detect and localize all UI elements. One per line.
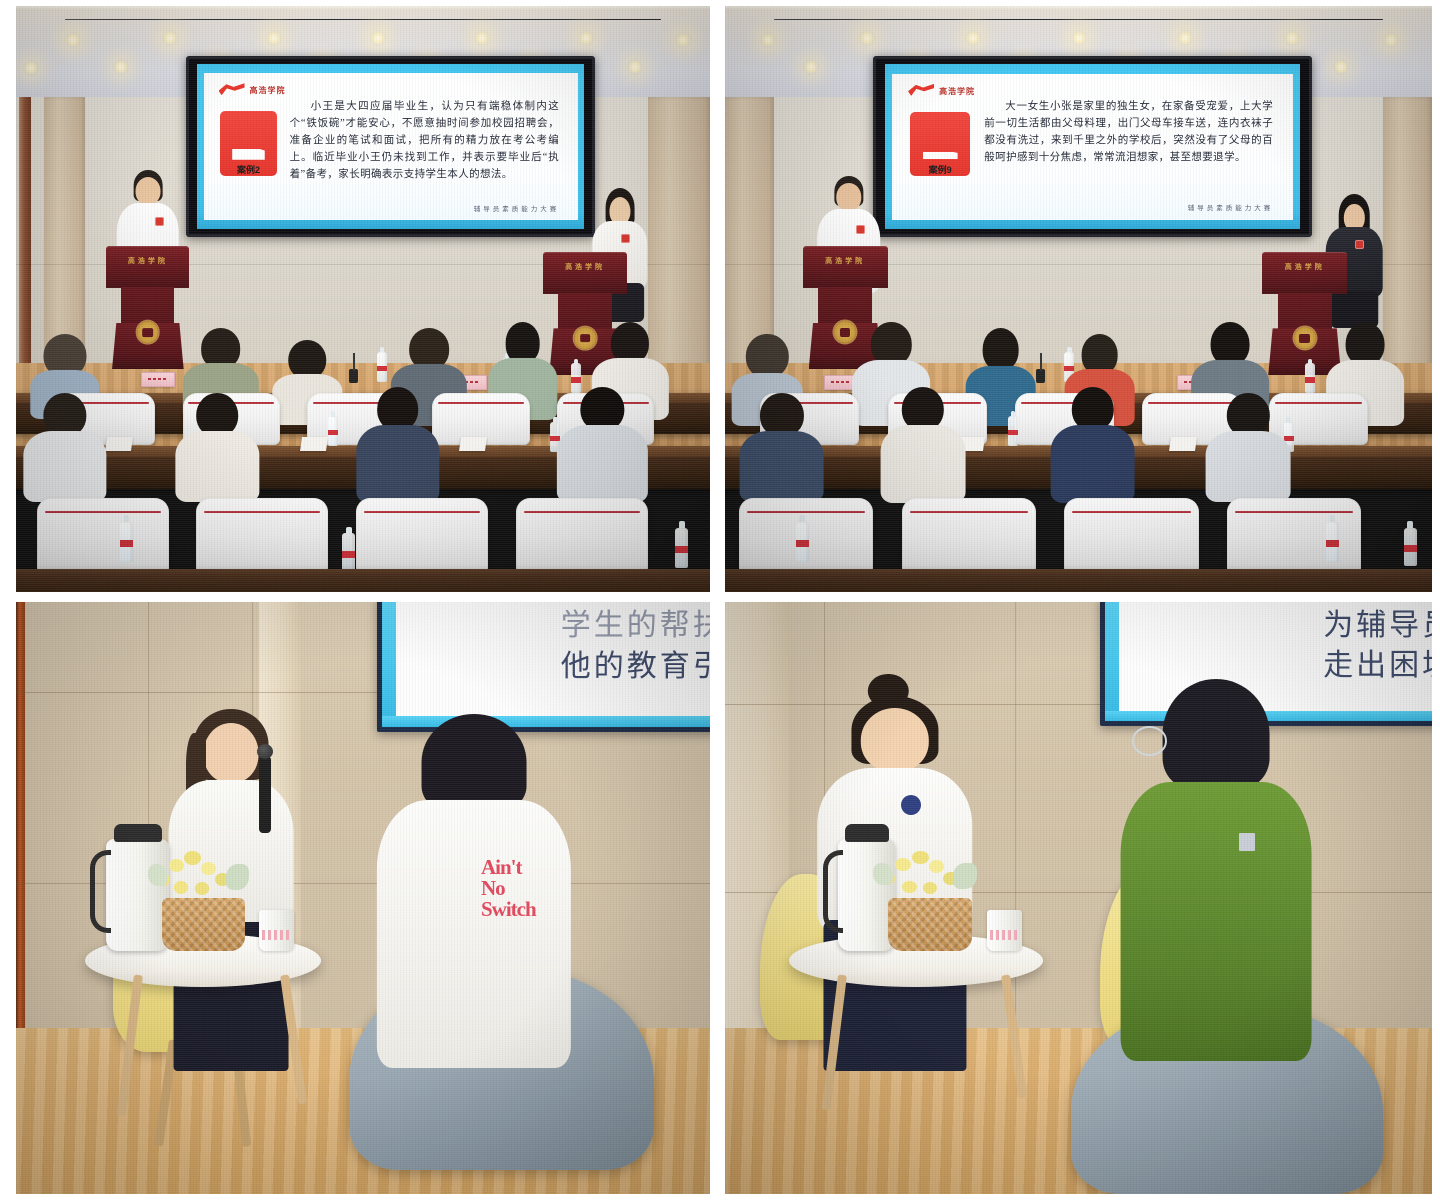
chair-back: [902, 498, 1036, 574]
water-bottle: [120, 522, 133, 562]
head: [860, 708, 928, 772]
flower: [174, 881, 188, 893]
screen-inner-bezel: 高浩学院 案例9 大一女生小张是家里的独生女，在家备受宠爱，上大学前一切生活都由…: [885, 64, 1300, 229]
torso: [881, 425, 966, 503]
ceiling-spotlight: [675, 32, 691, 48]
ceiling-spotlight: [1177, 30, 1193, 46]
chair-back: [196, 498, 328, 574]
kettle-handle: [823, 850, 842, 933]
institution-logo: 高浩学院: [219, 80, 286, 98]
conference-table-front: [725, 569, 1432, 592]
foliage: [953, 863, 977, 889]
led-presentation-screen: 高浩学院 案例9 大一女生小张是家里的独生女，在家备受宠爱，上大学前一切生活都由…: [873, 56, 1311, 238]
ceiling-rail: [774, 19, 1382, 20]
podium-text: 高浩学院: [565, 262, 605, 272]
ceiling-spotlight: [760, 32, 776, 48]
slide-body-text: 大一女生小张是家里的独生女，在家备受宠爱，上大学前一切生活都由父母料理，出门父母…: [984, 98, 1273, 166]
flower-bouquet: [873, 845, 993, 910]
flower: [195, 882, 209, 894]
projection-line-2: 他的教育引: [561, 647, 710, 688]
ceiling-edge: [16, 6, 710, 9]
flower: [929, 860, 945, 873]
projection-text: 学生的帮扶 他的教育引: [561, 606, 710, 687]
torso-tshirt: [1121, 782, 1312, 1061]
microphone-unit: [1036, 369, 1045, 383]
head: [836, 183, 861, 211]
slide-body-text: 小王是大四应届毕业生，认为只有端稳体制内这个“铁饭碗”才能安心，不愿意抽时间参加…: [290, 98, 560, 183]
microphone-unit: [349, 369, 358, 383]
screen-cyan-edge: [1105, 602, 1119, 721]
audience-member: [1206, 393, 1291, 498]
ceiling-spotlight: [859, 30, 875, 46]
tshirt-line-3: Switch: [481, 899, 536, 920]
audience-member: [23, 393, 106, 498]
ceiling-spotlight: [965, 30, 981, 46]
ceiling-spotlight: [474, 30, 490, 46]
photo-panel-top-right[interactable]: 高浩学院 案例9 大一女生小张是家里的独生女，在家备受宠爱，上大学前一切生活都由…: [725, 6, 1432, 592]
wall-accent-stripe: [19, 97, 30, 367]
glasses-icon: [1132, 726, 1167, 756]
chest-badge: [1355, 240, 1364, 249]
water-bottle: [675, 528, 688, 568]
flower: [201, 862, 216, 875]
university-seal: [137, 322, 159, 344]
podium-top: 高浩学院: [543, 252, 626, 294]
torso: [739, 431, 824, 503]
torso-tshirt: [377, 800, 571, 1068]
presentation-slide: 高浩学院 案例9 大一女生小张是家里的独生女，在家备受宠爱，上大学前一切生活都由…: [892, 74, 1293, 220]
foliage: [148, 864, 167, 886]
kettle-lid: [114, 824, 163, 842]
slide-footer: 辅导员素质能力大赛: [474, 203, 560, 213]
podium-top: 高浩学院: [1262, 252, 1347, 294]
podium-stem: [121, 287, 174, 324]
paper-cup: [259, 910, 294, 951]
flower: [169, 859, 184, 872]
audience-member: [1050, 387, 1135, 498]
notebook: [300, 437, 328, 451]
chair-back: [1064, 498, 1198, 574]
ceiling-spotlight: [162, 30, 178, 46]
torso: [356, 425, 439, 503]
water-bottle: [1008, 416, 1018, 446]
flower: [902, 881, 916, 893]
sl-logo-icon: [219, 83, 245, 95]
screen-inner-bezel: 高浩学院 案例2 小王是大四应届毕业生，认为只有端稳体制内这个“铁饭碗”才能安心…: [197, 64, 584, 229]
slide-paragraph: 小王是大四应届毕业生，认为只有端稳体制内这个“铁饭碗”才能安心，不愿意抽时间参加…: [290, 98, 560, 183]
podium-text: 高浩学院: [1285, 262, 1325, 272]
student: [377, 714, 571, 1057]
ceiling-edge: [725, 6, 1432, 9]
torso: [1206, 431, 1291, 503]
photo-panel-top-left[interactable]: 高浩学院 案例2 小王是大四应届毕业生，认为只有端稳体制内这个“铁饭碗”才能安心…: [16, 6, 710, 592]
ceiling-spotlight: [1284, 30, 1300, 46]
podium-text: 高浩学院: [825, 256, 865, 266]
hair: [422, 714, 527, 810]
ceiling-spotlight: [113, 59, 129, 75]
institution-logo: 高浩学院: [908, 81, 975, 99]
podium-left: 高浩学院: [106, 246, 189, 369]
water-bottle: [1404, 528, 1417, 566]
logo-text: 高浩学院: [939, 87, 975, 96]
flower: [895, 858, 911, 871]
foliage: [226, 864, 250, 890]
slide-paragraph: 大一女生小张是家里的独生女，在家备受宠爱，上大学前一切生活都由父母料理，出门父母…: [984, 98, 1273, 166]
ceiling-spotlight: [23, 60, 39, 76]
photo-panel-bottom-right[interactable]: 为辅导员 走出困境: [725, 602, 1432, 1194]
podium-stem: [1278, 293, 1332, 330]
logo-text: 高浩学院: [250, 86, 286, 95]
projection-text: 为辅导员 走出困境: [1323, 606, 1432, 687]
tshirt-text: Ain't No Switch: [481, 857, 536, 920]
ceiling-spotlight: [370, 30, 386, 46]
document-icon: [923, 152, 958, 160]
projection-line-2: 走出困境: [1323, 646, 1432, 687]
shirt-tag: [1239, 833, 1254, 851]
case-badge: 案例2: [220, 111, 276, 176]
kettle-lid: [845, 824, 889, 842]
shirt-emblem: [901, 795, 921, 815]
wall-column: [725, 97, 774, 367]
ceiling-spotlight: [1333, 59, 1349, 75]
ceiling-spotlight: [65, 32, 81, 48]
water-bottle: [377, 352, 387, 382]
university-seal: [1294, 327, 1316, 349]
audience-member: [881, 387, 966, 498]
podium-stem: [818, 287, 872, 324]
notebook: [1169, 437, 1197, 451]
photo-panel-bottom-left[interactable]: 学生的帮扶 他的教育引: [16, 602, 710, 1194]
podium-top: 高浩学院: [106, 246, 189, 288]
water-bottle: [328, 416, 338, 446]
ceiling-spotlight: [1383, 32, 1399, 48]
water-bottle: [1305, 363, 1315, 393]
water-bottle: [342, 533, 355, 571]
led-presentation-screen: 高浩学院 案例2 小王是大四应届毕业生，认为只有端稳体制内这个“铁饭碗”才能安心…: [186, 56, 595, 238]
torso: [23, 431, 106, 503]
chair-back: [356, 498, 488, 574]
chair-back: [516, 498, 648, 574]
conference-table-front: [16, 569, 710, 592]
document-icon: [232, 149, 265, 160]
chest-badge: [856, 225, 865, 234]
ceiling-spotlight: [266, 30, 282, 46]
chair-back: [1227, 498, 1361, 574]
notebook: [105, 437, 133, 451]
ceiling-spotlight: [578, 30, 594, 46]
head: [204, 723, 259, 783]
microphone: [259, 756, 271, 833]
audience-member: [557, 387, 647, 498]
torso: [557, 425, 647, 503]
ceiling-rail: [65, 19, 662, 20]
presentation-slide: 高浩学院 案例2 小王是大四应届毕业生，认为只有端稳体制内这个“铁饭碗”才能安心…: [204, 73, 578, 220]
wall-accent-stripe: [16, 602, 25, 1028]
water-bottle: [1326, 522, 1339, 562]
photo-collage: 高浩学院 案例2 小王是大四应届毕业生，认为只有端稳体制内这个“铁饭碗”才能安心…: [0, 0, 1440, 1200]
torso: [176, 431, 259, 503]
case-label: 案例2: [237, 163, 260, 176]
head: [135, 177, 160, 205]
hair: [1163, 679, 1270, 789]
flower-bouquet: [148, 845, 266, 910]
ceiling-spotlight: [1071, 30, 1087, 46]
audience-member: [176, 393, 259, 498]
torso: [1050, 425, 1135, 503]
flower: [184, 851, 201, 865]
notebook: [459, 437, 487, 451]
chair-back: [37, 498, 169, 574]
podium-top: 高浩学院: [803, 246, 888, 288]
flower: [912, 851, 929, 865]
water-bottle: [796, 522, 809, 562]
tshirt-line-1: Ain't: [481, 857, 536, 878]
head: [746, 334, 788, 378]
case-label: 案例9: [929, 163, 952, 176]
foliage: [873, 863, 892, 885]
chest-badge: [155, 217, 164, 226]
podium-text: 高浩学院: [128, 256, 168, 266]
projection-line-1: 为辅导员: [1323, 606, 1432, 647]
ceiling-spotlight: [627, 59, 643, 75]
ceiling-spotlight: [803, 59, 819, 75]
flower: [923, 882, 937, 894]
screen-cyan-edge: [382, 602, 396, 727]
tshirt-line-2: No: [481, 878, 536, 899]
projection-screen: 学生的帮扶 他的教育引: [377, 602, 710, 732]
audience-member: [356, 387, 439, 498]
projection-line-1: 学生的帮扶: [561, 606, 710, 647]
name-plate: [141, 372, 175, 387]
sl-logo-icon: [908, 84, 934, 96]
wall-column: [44, 97, 86, 367]
chest-badge: [621, 234, 630, 243]
audience-member: [739, 393, 824, 498]
paper-cup: [987, 910, 1022, 951]
slide-footer: 辅导员素质能力大赛: [1188, 202, 1274, 212]
kettle-handle: [90, 850, 111, 933]
case-badge: 案例9: [910, 112, 970, 176]
